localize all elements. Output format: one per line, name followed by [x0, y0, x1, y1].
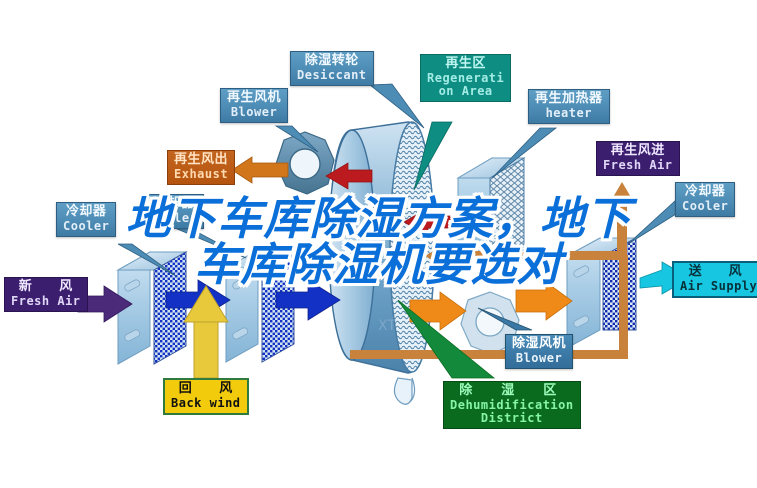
label-fresh-air-in[interactable]: 新 风 Fresh Air [4, 277, 88, 312]
label-regeneration-area-en1: Regenerati [427, 72, 504, 85]
label-desiccant-rotor[interactable]: 除湿转轮 Desiccant [290, 51, 374, 86]
label-regeneration-heater-cn: 再生加热器 [535, 92, 603, 107]
label-cooler-left[interactable]: 冷却器 Cooler [56, 202, 116, 237]
label-regeneration-blower[interactable]: 再生风机 Blower [220, 88, 288, 123]
label-cooler-right-en: Cooler [682, 200, 728, 213]
label-back-wind-en: Back wind [171, 397, 241, 410]
label-cooler-right[interactable]: 冷却器 Cooler [675, 182, 735, 217]
label-desiccant-rotor-en: Desiccant [297, 69, 367, 82]
label-regeneration-blower-cn: 再生风机 [227, 91, 281, 106]
label-regeneration-blower-en: Blower [227, 106, 281, 119]
label-cooler-mid[interactable]: 冷却器 Cooler [144, 194, 204, 229]
schematic-drawing: XT [0, 0, 757, 488]
rotor-watermark: XT [378, 318, 396, 334]
label-exhaust-cn: 再生风出 [174, 153, 228, 168]
label-regeneration-area[interactable]: 再生区 Regenerati on Area [420, 54, 511, 102]
label-exhaust-en: Exhaust [174, 168, 228, 181]
label-regeneration-area-en2: on Area [427, 85, 504, 98]
label-cooler-mid-cn: 冷却器 [151, 197, 197, 212]
label-back-wind[interactable]: 回 风 Back wind [163, 378, 249, 415]
label-dehumidification-district-en2: District [450, 412, 574, 425]
label-regeneration-heater-en: heater [535, 107, 603, 120]
label-cooler-left-cn: 冷却器 [63, 205, 109, 220]
label-regeneration-heater[interactable]: 再生加热器 heater [528, 89, 610, 124]
label-cooler-right-cn: 冷却器 [682, 185, 728, 200]
dehumidifier-schematic-image: XT [0, 0, 757, 488]
label-dehumidification-district-en1: Dehumidification [450, 399, 574, 412]
label-fresh-air-in-en: Fresh Air [11, 295, 81, 308]
leader-cooler-right [628, 200, 676, 244]
leader-desiccant [370, 84, 424, 128]
label-cooler-mid-en: Cooler [151, 212, 197, 225]
label-regeneration-fresh-air[interactable]: 再生风进 Fresh Air [596, 141, 680, 176]
label-air-supply-en: Air Supply [680, 280, 757, 293]
label-dehumidification-blower-en: Blower [512, 352, 566, 365]
label-back-wind-cn: 回 风 [171, 382, 241, 397]
label-regeneration-fresh-air-en: Fresh Air [603, 159, 673, 172]
label-desiccant-rotor-cn: 除湿转轮 [297, 54, 367, 69]
label-regeneration-area-cn: 再生区 [427, 57, 504, 72]
label-dehumidification-district[interactable]: 除 湿 区 Dehumidification District [443, 381, 581, 429]
label-fresh-air-in-cn: 新 风 [11, 280, 81, 295]
label-dehumidification-district-cn: 除 湿 区 [450, 384, 574, 399]
label-exhaust[interactable]: 再生风出 Exhaust [167, 150, 235, 185]
label-dehumidification-blower[interactable]: 除湿风机 Blower [505, 334, 573, 369]
label-dehumidification-blower-cn: 除湿风机 [512, 337, 566, 352]
label-air-supply-cn: 送 风 [680, 265, 757, 280]
dry-air-orange-arrow-2 [516, 282, 572, 320]
label-cooler-left-en: Cooler [63, 220, 109, 233]
label-air-supply[interactable]: 送 风 Air Supply [672, 261, 757, 298]
desiccant-rotor: XT [329, 122, 434, 404]
label-regeneration-fresh-air-cn: 再生风进 [603, 144, 673, 159]
